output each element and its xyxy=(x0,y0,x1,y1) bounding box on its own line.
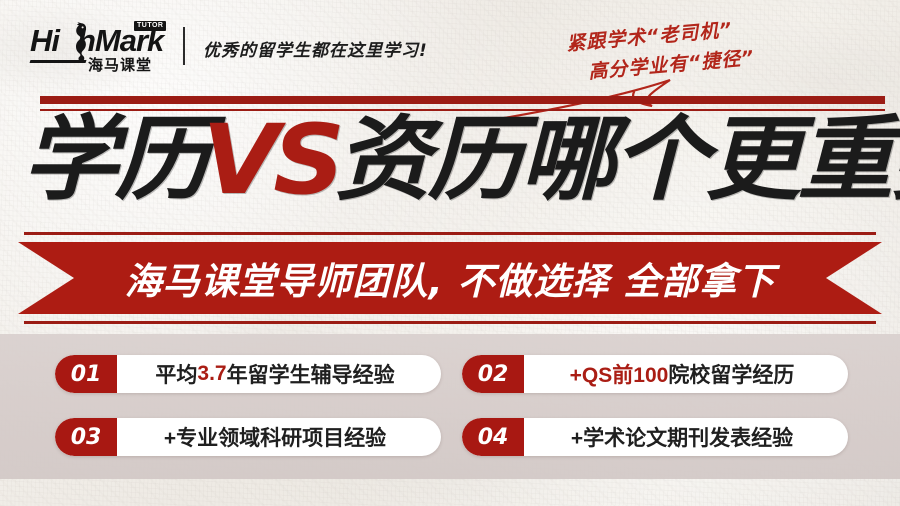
brand-logo[interactable]: HighMark TUTOR 海马课堂 xyxy=(30,24,170,72)
logo-underline-stroke xyxy=(30,60,87,63)
feature-label-prefix: 平均 xyxy=(155,359,197,389)
feature-label-suffix: 院校留学经历 xyxy=(668,359,794,389)
banner-header: HighMark TUTOR 海马课堂 优秀的留学生都在这里学习! 紧跟学术“老… xyxy=(0,0,900,92)
seahorse-icon xyxy=(70,21,90,61)
headline-part-1: 学历 xyxy=(22,108,207,212)
promo-banner: HighMark TUTOR 海马课堂 优秀的留学生都在这里学习! 紧跟学术“老… xyxy=(0,0,900,506)
logo-chinese-name: 海马课堂 xyxy=(88,54,152,75)
feature-list: 01 平均3.7年留学生辅导经验 02 +QS前100院校留学经历 03 +专业… xyxy=(0,334,900,479)
header-divider xyxy=(183,27,185,65)
feature-label-suffix: 年留学生辅导经验 xyxy=(227,359,395,389)
headline-rule-thick xyxy=(40,96,885,104)
feature-number-badge: 03 xyxy=(55,418,117,456)
feature-label-highlight: +QS前100 xyxy=(570,359,669,389)
ribbon-banner: 海马课堂导师团队, 不做选择 全部拿下 xyxy=(18,232,882,324)
logo-word-part1: Hi xyxy=(30,23,59,58)
feature-item-01[interactable]: 01 平均3.7年留学生辅导经验 xyxy=(55,355,441,393)
feature-label: +QS前100院校留学经历 xyxy=(524,355,848,393)
tutor-badge: TUTOR xyxy=(134,21,166,31)
main-headline: 学历VS资历哪个更重要 xyxy=(22,108,882,212)
feature-item-04[interactable]: 04 +学术论文期刊发表经验 xyxy=(462,418,848,456)
ribbon-rule-top xyxy=(24,232,876,235)
feature-item-02[interactable]: 02 +QS前100院校留学经历 xyxy=(462,355,848,393)
header-tagline: 优秀的留学生都在这里学习! xyxy=(203,36,428,61)
feature-label: 平均3.7年留学生辅导经验 xyxy=(117,355,441,393)
ribbon-rule-bottom xyxy=(24,321,876,324)
ribbon-text: 海马课堂导师团队, 不做选择 全部拿下 xyxy=(18,242,882,314)
feature-label-suffix: +专业领域科研项目经验 xyxy=(164,422,386,452)
headline-part-2: 资历哪个更重要 xyxy=(335,108,900,212)
corner-slogan: 紧跟学术“老司机” 高分学业有“捷径” xyxy=(562,22,812,84)
feature-number-badge: 01 xyxy=(55,355,117,393)
feature-number-badge: 02 xyxy=(462,355,524,393)
feature-label: +专业领域科研项目经验 xyxy=(117,418,441,456)
feature-label-suffix: +学术论文期刊发表经验 xyxy=(571,422,793,452)
feature-number-badge: 04 xyxy=(462,418,524,456)
feature-item-03[interactable]: 03 +专业领域科研项目经验 xyxy=(55,418,441,456)
headline-vs: VS xyxy=(200,108,341,212)
feature-label-highlight: 3.7 xyxy=(197,362,226,386)
feature-label: +学术论文期刊发表经验 xyxy=(524,418,848,456)
